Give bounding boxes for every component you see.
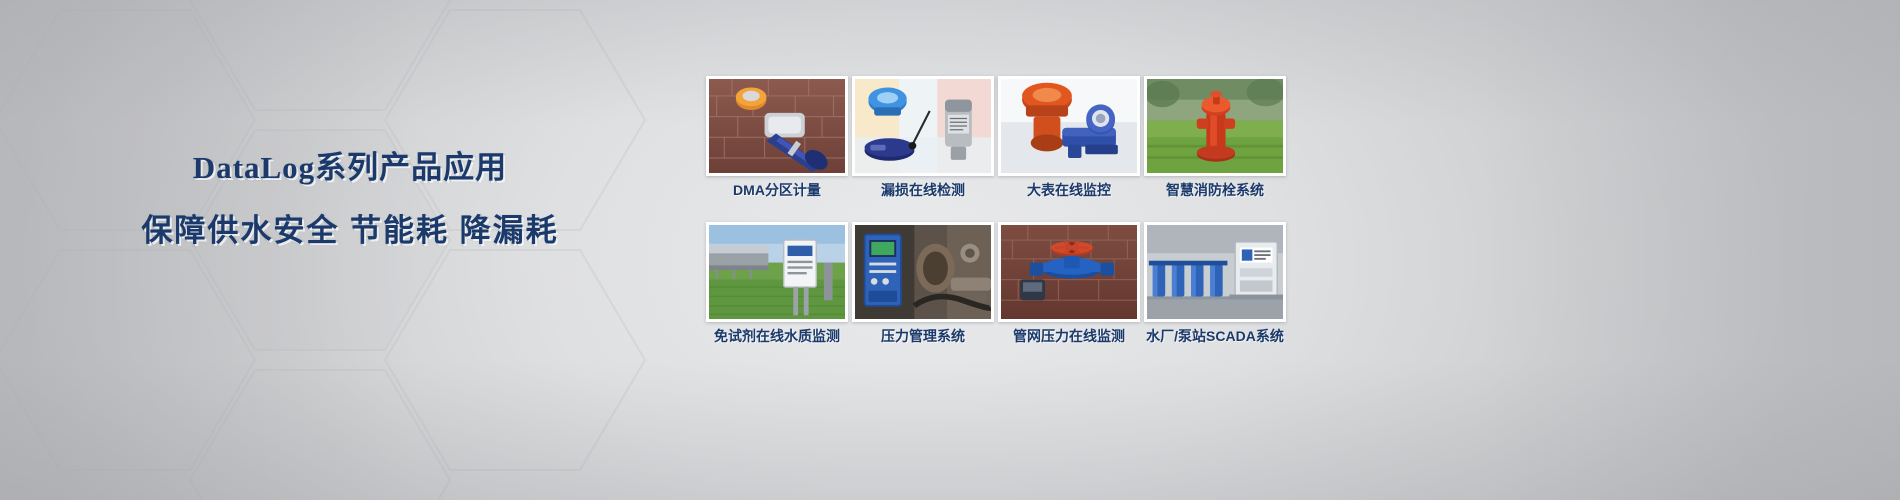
- product-card-caption: 免试剂在线水质监测: [714, 326, 840, 346]
- leak-detection-sensor-photo: [852, 76, 994, 176]
- product-card-large-meter[interactable]: 大表在线监控: [998, 76, 1140, 176]
- promo-banner: DataLog系列产品应用 保障供水安全 节能耗 降漏耗: [0, 0, 1900, 500]
- product-card-pressure-management[interactable]: 压力管理系统: [852, 222, 994, 322]
- product-card-caption: 管网压力在线监测: [1013, 326, 1125, 346]
- pressure-management-cabinet-photo: [852, 222, 994, 322]
- product-application-grid: DMA分区计量: [706, 76, 1286, 322]
- product-card-pipe-pressure[interactable]: 管网压力在线监测: [998, 222, 1140, 322]
- waterworks-scada-cabinet-photo: [1144, 222, 1286, 322]
- dma-flow-meter-photo: [706, 76, 848, 176]
- product-card-caption: 水厂/泵站SCADA系统: [1146, 326, 1284, 346]
- product-card-caption: 压力管理系统: [881, 326, 965, 346]
- product-card-caption: 大表在线监控: [1027, 180, 1111, 200]
- product-card-scada[interactable]: 水厂/泵站SCADA系统: [1144, 222, 1286, 322]
- pipe-network-pressure-valve-photo: [998, 222, 1140, 322]
- product-card-dma[interactable]: DMA分区计量: [706, 76, 848, 176]
- product-card-fire-hydrant[interactable]: 智慧消防栓系统: [1144, 76, 1286, 176]
- product-card-caption: 智慧消防栓系统: [1166, 180, 1264, 200]
- product-card-caption: 漏损在线检测: [881, 180, 965, 200]
- product-card-water-quality[interactable]: 免试剂在线水质监测: [706, 222, 848, 322]
- product-card-caption: DMA分区计量: [733, 180, 821, 200]
- smart-fire-hydrant-photo: [1144, 76, 1286, 176]
- headline-block: DataLog系列产品应用 保障供水安全 节能耗 降漏耗: [0, 150, 700, 249]
- large-meter-orange-photo: [998, 76, 1140, 176]
- reagent-free-water-quality-photo: [706, 222, 848, 322]
- headline-line-1: DataLog系列产品应用: [0, 150, 700, 186]
- product-card-leak-detection[interactable]: 漏损在线检测: [852, 76, 994, 176]
- headline-line-2: 保障供水安全 节能耗 降漏耗: [0, 213, 700, 249]
